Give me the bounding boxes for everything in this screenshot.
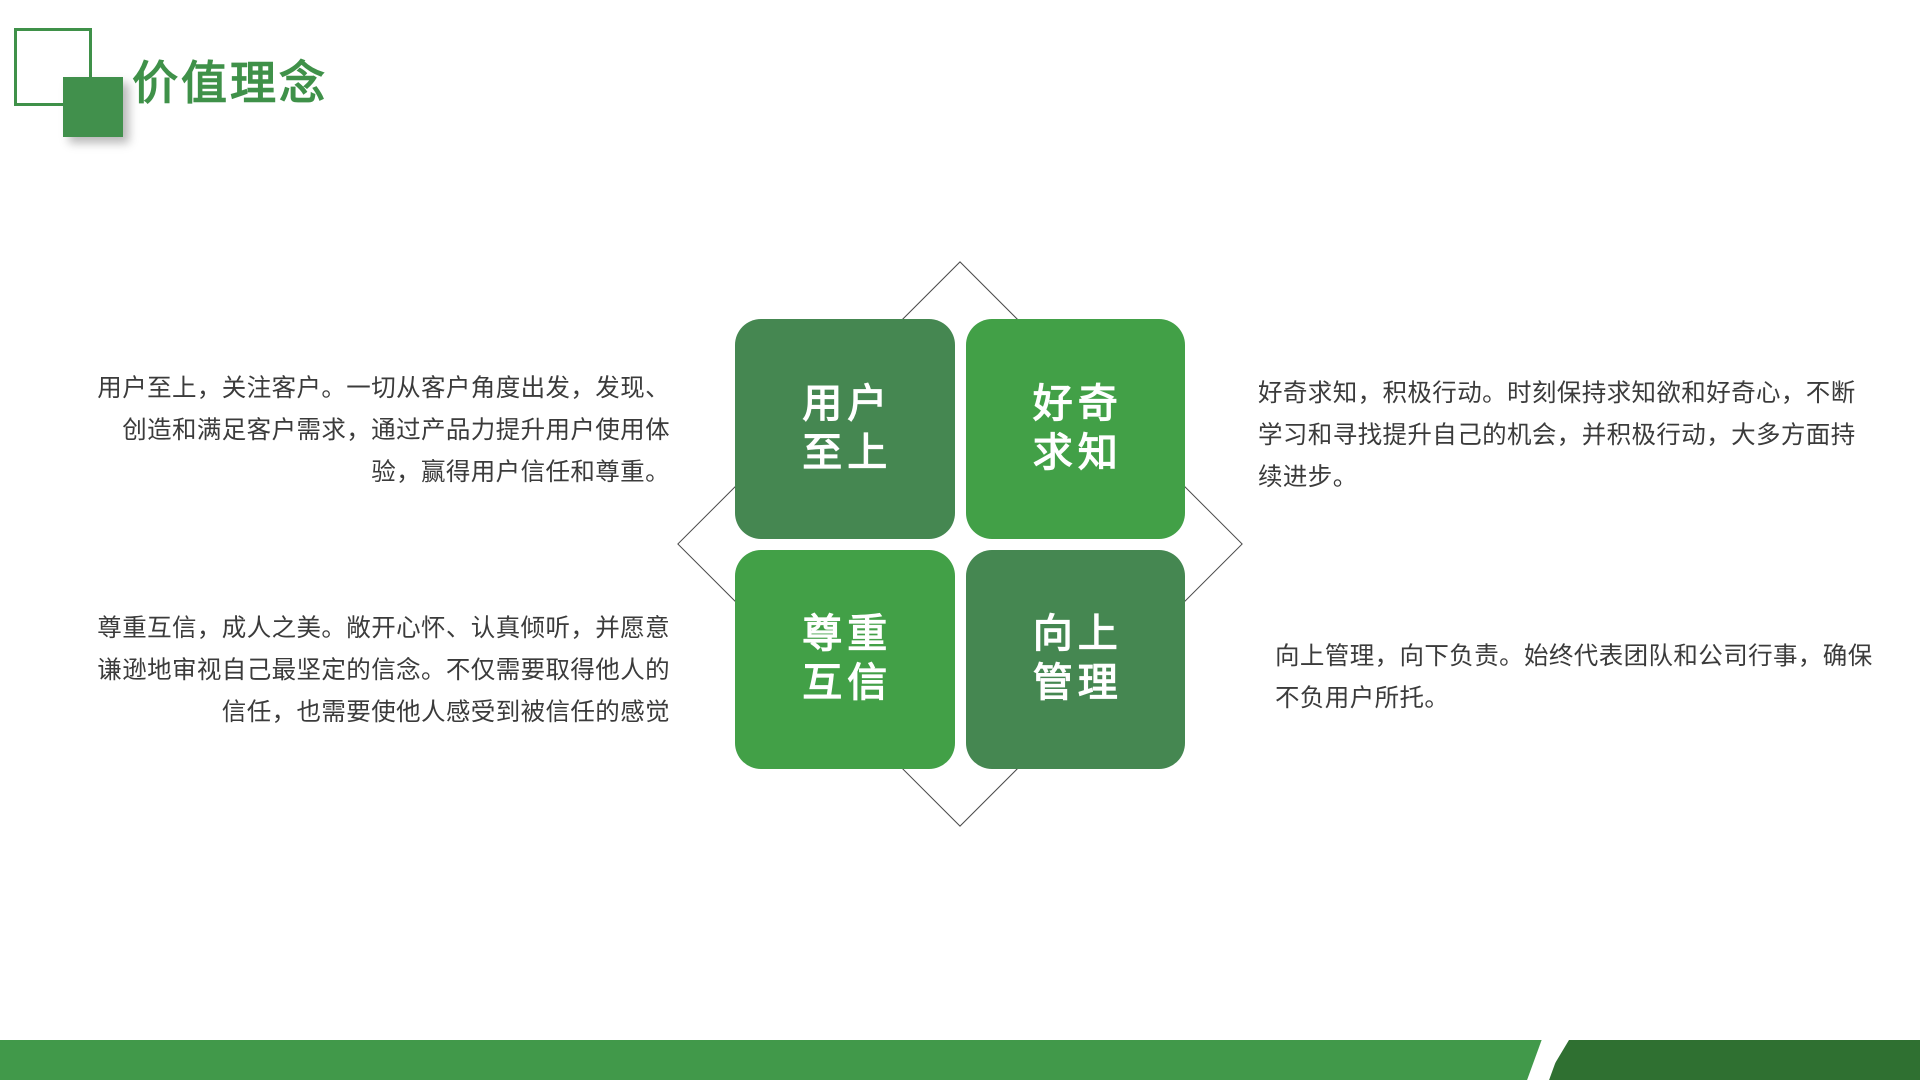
value-card-line-2: 至上 <box>797 429 892 478</box>
slide-header: 价值理念 <box>0 0 1920 150</box>
description-manage-up: 向上管理，向下负责。始终代表团队和公司行事，确保不负用户所托。 <box>1275 636 1895 720</box>
footer-bar-left-segment <box>0 1040 1553 1080</box>
value-card-mutual-trust[interactable]: 尊重 互信 <box>735 550 955 770</box>
footer-bar-right-segment <box>1545 1040 1920 1080</box>
logo-filled-square-icon <box>63 77 123 137</box>
value-card-line-1: 用户 <box>797 380 892 429</box>
value-card-user-first[interactable]: 用户 至上 <box>735 319 955 539</box>
description-user-first: 用户至上，关注客户。一切从客户角度出发，发现、创造和满足客户需求，通过产品力提升… <box>90 368 670 494</box>
value-card-line-1: 尊重 <box>797 610 892 659</box>
value-card-line-2: 管理 <box>1028 659 1123 708</box>
value-card-manage-up[interactable]: 向上 管理 <box>966 550 1186 770</box>
value-matrix-diagram: 用户 至上 好奇 求知 尊重 互信 向上 管理 <box>668 252 1252 836</box>
description-mutual-trust: 尊重互信，成人之美。敞开心怀、认真倾听，并愿意谦逊地审视自己最坚定的信念。不仅需… <box>90 608 670 734</box>
logo-mark-icon <box>14 28 110 124</box>
description-curiosity: 好奇求知，积极行动。时刻保持求知欲和好奇心，不断学习和寻找提升自己的机会，并积极… <box>1258 373 1878 499</box>
value-card-line-2: 互信 <box>797 659 892 708</box>
value-card-line-2: 求知 <box>1028 429 1123 478</box>
footer-decorative-bar <box>0 1040 1920 1080</box>
value-card-curiosity[interactable]: 好奇 求知 <box>966 319 1186 539</box>
value-card-line-1: 向上 <box>1028 610 1123 659</box>
value-card-grid: 用户 至上 好奇 求知 尊重 互信 向上 管理 <box>735 319 1185 769</box>
value-card-line-1: 好奇 <box>1028 380 1123 429</box>
page-title: 价值理念 <box>132 47 328 113</box>
